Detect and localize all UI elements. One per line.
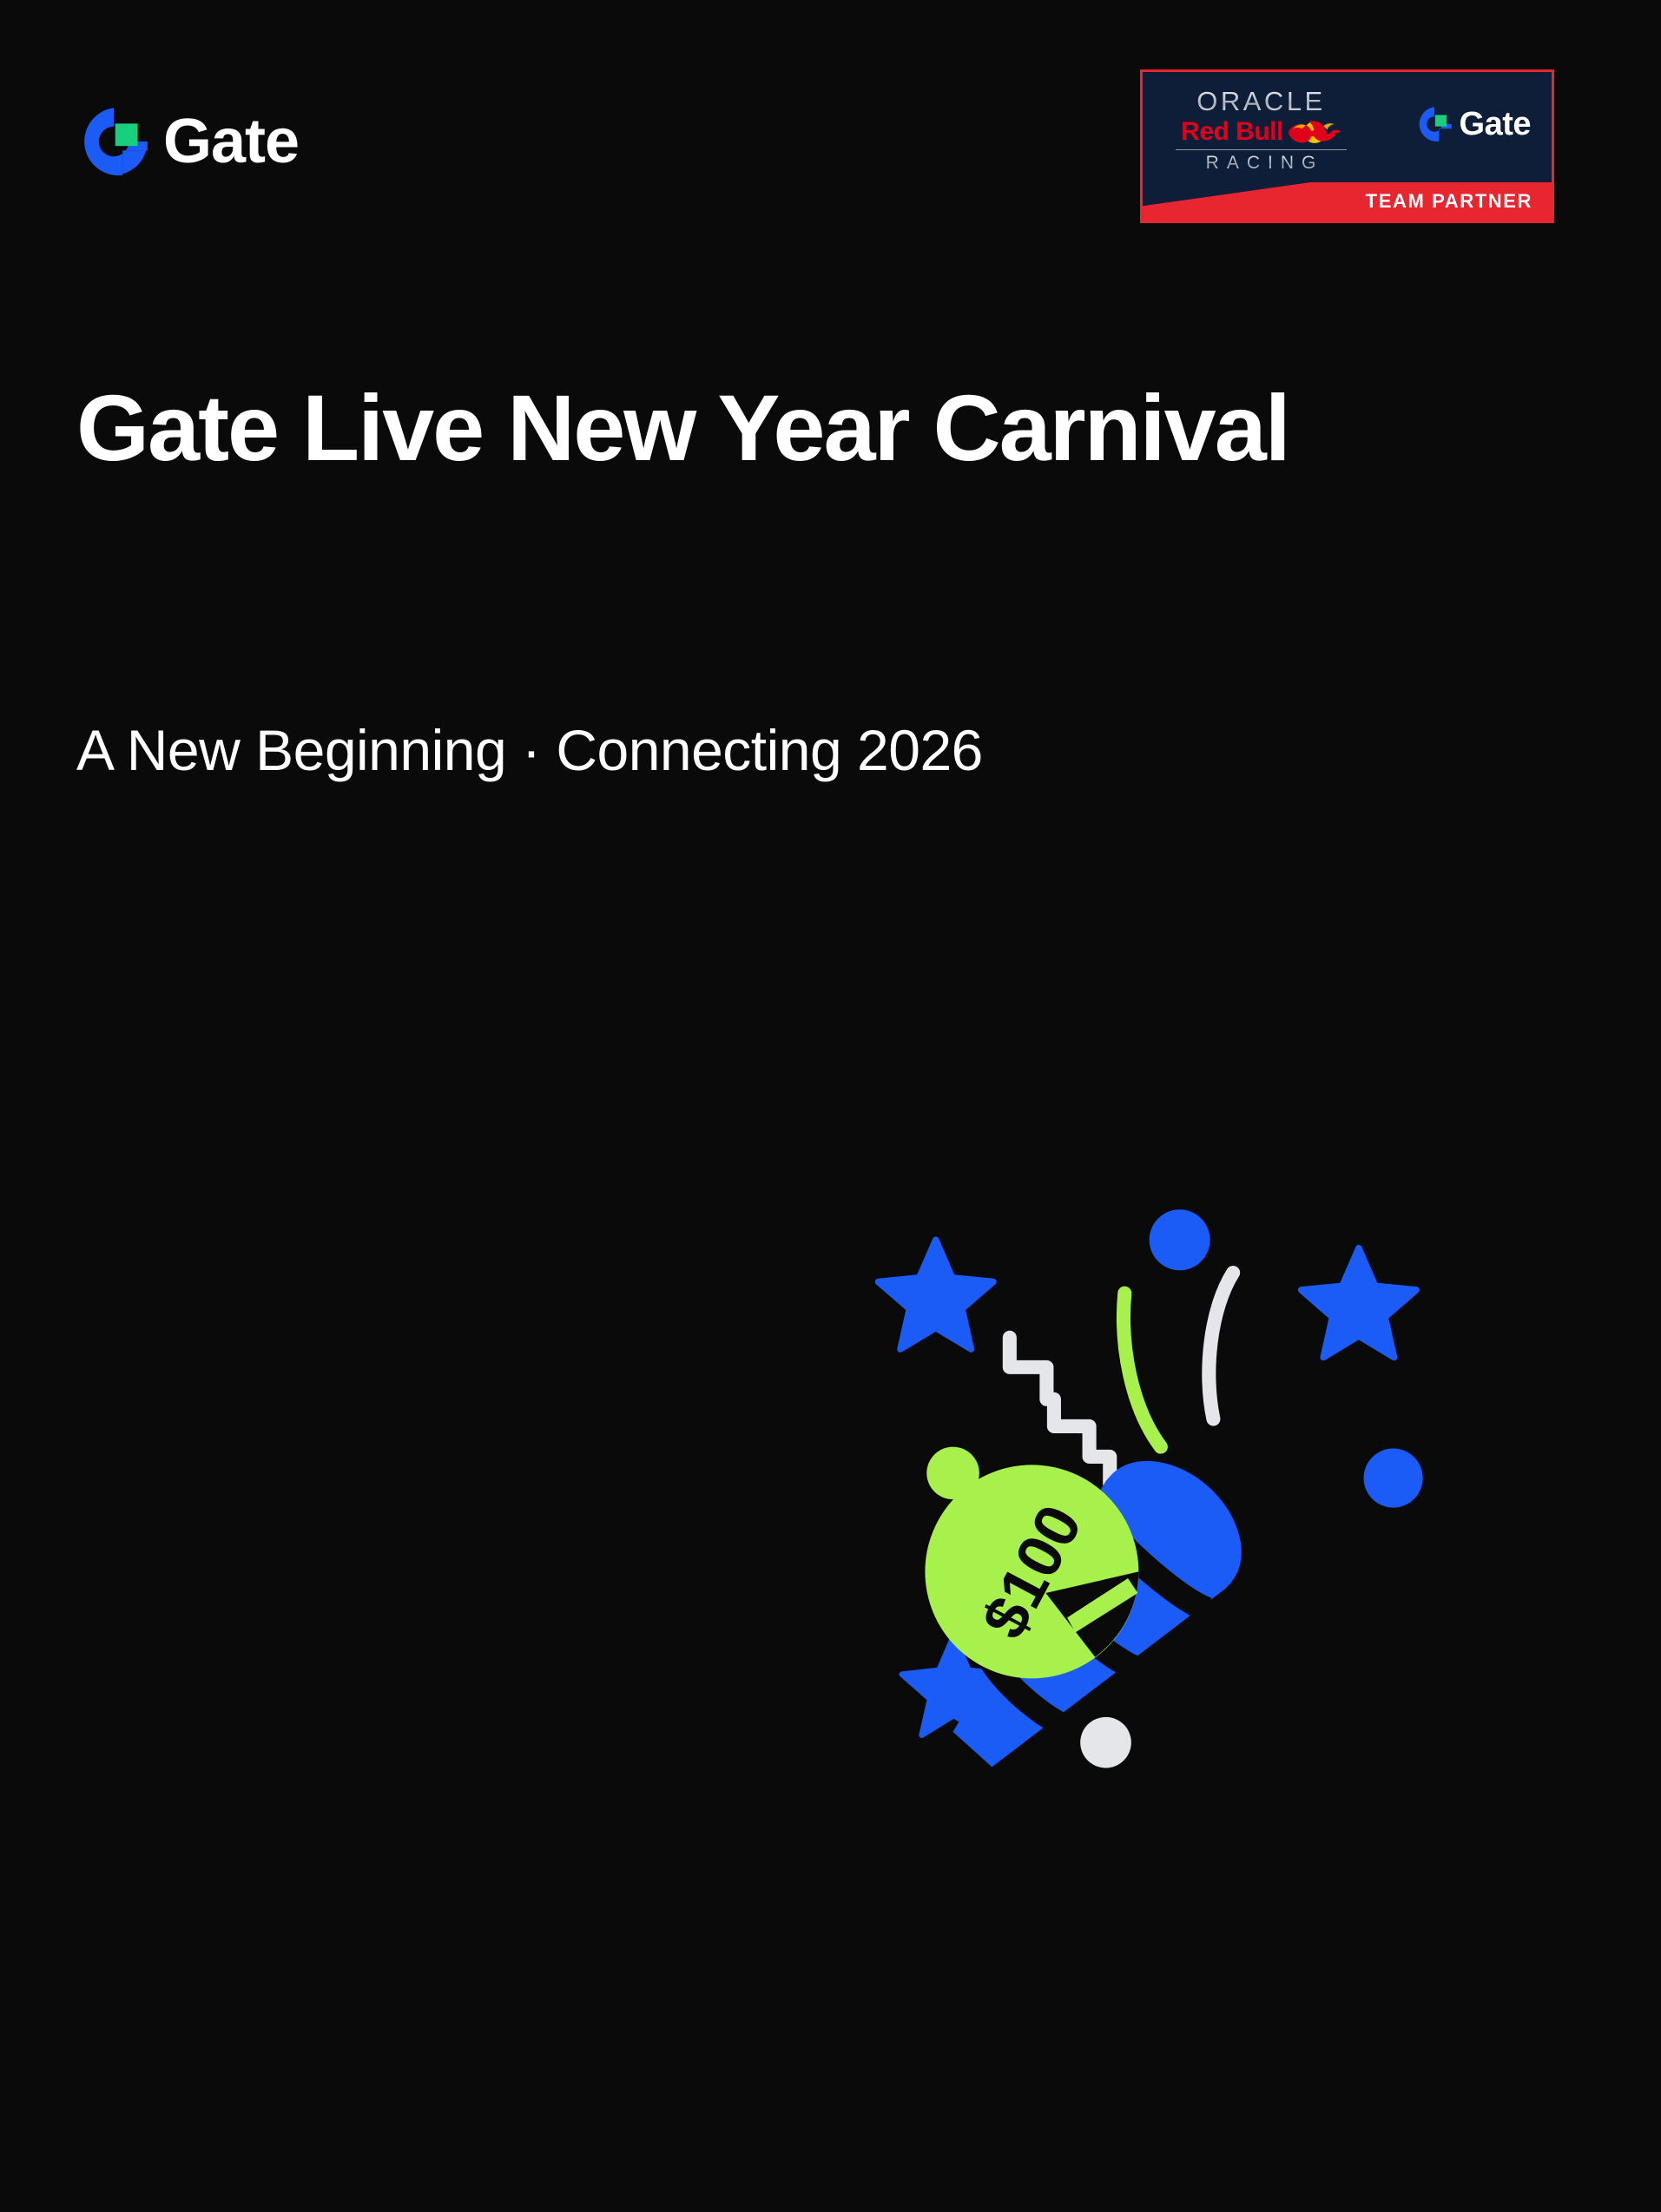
star-icon-top-left — [878, 1240, 992, 1349]
team-partner-ribbon: TEAM PARTNER — [1143, 182, 1552, 221]
circle-dot-icon-top-center — [1150, 1209, 1210, 1270]
partner-badge-inner: ORACLE Red Bull RACING — [1143, 72, 1552, 221]
oracle-label: ORACLE — [1172, 88, 1350, 116]
gate-brand-logo[interactable]: Gate — [76, 104, 299, 179]
lockup-divider — [1176, 149, 1347, 150]
red-bull-label: Red Bull — [1181, 119, 1283, 145]
gate-wordmark: Gate — [163, 110, 299, 173]
gate-logo-mark-icon — [76, 104, 151, 179]
red-bull-row: Red Bull — [1172, 119, 1350, 145]
curved-streamer-icon-white — [1209, 1273, 1233, 1419]
circle-dot-icon-bottom-center — [1080, 1717, 1131, 1768]
page-root: Gate ORACLE Red Bull — [0, 0, 1661, 2212]
circle-dot-icon-right — [1364, 1449, 1423, 1508]
team-partner-label: TEAM PARTNER — [1366, 192, 1552, 211]
red-bull-emblem-icon — [1288, 119, 1341, 145]
badge-gate-logo: Gate — [1415, 105, 1531, 143]
star-icon-top-right — [1302, 1248, 1416, 1358]
racing-label: RACING — [1172, 154, 1350, 172]
page-title: Gate Live New Year Carnival — [76, 376, 1289, 481]
party-popper-illustration: $100 — [855, 1150, 1463, 1793]
red-bull-racing-partner-badge[interactable]: ORACLE Red Bull RACING — [1140, 69, 1554, 223]
coin-badge-icon: $100 — [925, 1465, 1138, 1678]
page-header: Gate ORACLE Red Bull — [0, 0, 1661, 234]
oracle-red-bull-racing-lockup: ORACLE Red Bull RACING — [1172, 88, 1350, 172]
curved-streamer-icon-green — [1124, 1294, 1161, 1447]
page-subtitle: A New Beginning · Connecting 2026 — [76, 716, 983, 785]
gate-logo-mark-icon-badge — [1415, 105, 1453, 143]
badge-gate-wordmark: Gate — [1460, 108, 1531, 141]
